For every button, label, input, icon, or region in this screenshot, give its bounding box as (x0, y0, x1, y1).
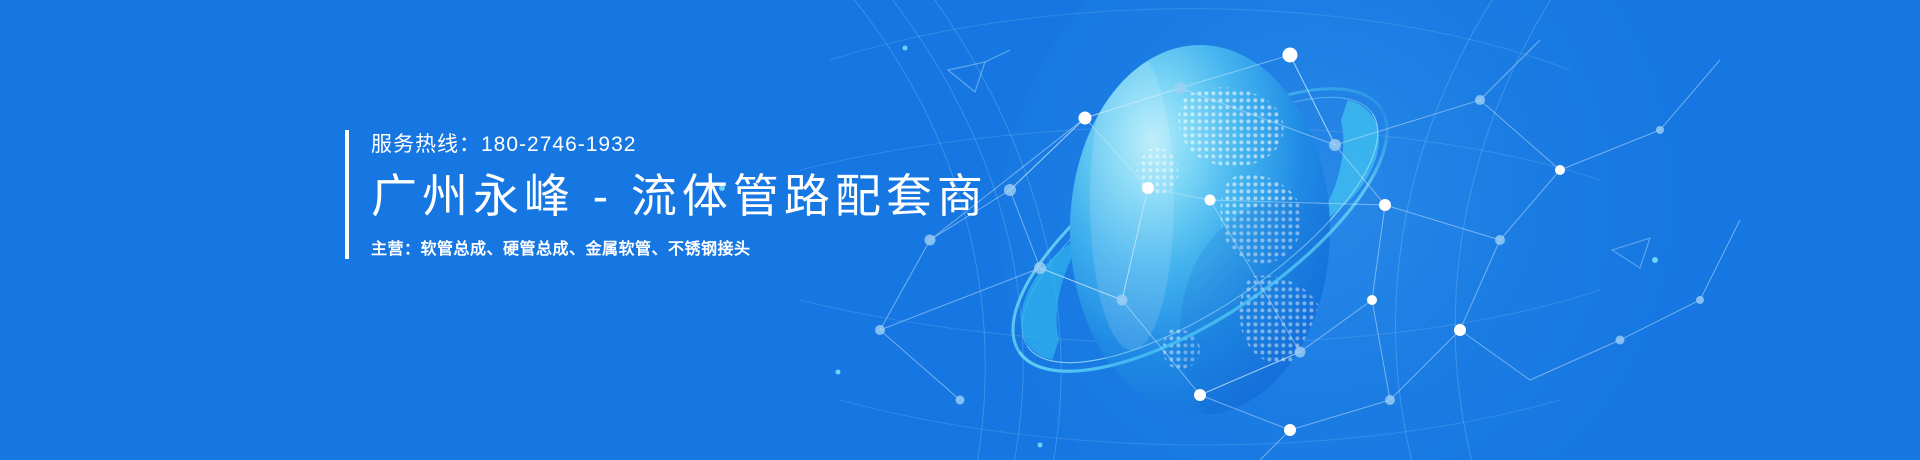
triangle-accent (948, 50, 1010, 92)
page-title: 广州永峰 - 流体管路配套商 (371, 167, 988, 226)
service-hotline: 服务热线：180-2746-1932 (371, 132, 988, 157)
banner-text-block: 服务热线：180-2746-1932 广州永峰 - 流体管路配套商 主营：软管总… (345, 130, 988, 259)
banner-text-column: 服务热线：180-2746-1932 广州永峰 - 流体管路配套商 主营：软管总… (371, 130, 988, 259)
globe-glow (1000, 0, 1700, 460)
hero-banner: 服务热线：180-2746-1932 广州永峰 - 流体管路配套商 主营：软管总… (0, 0, 1920, 460)
business-scope-subtitle: 主营：软管总成、硬管总成、金属软管、不锈钢接头 (371, 240, 988, 259)
accent-bar (345, 130, 349, 259)
